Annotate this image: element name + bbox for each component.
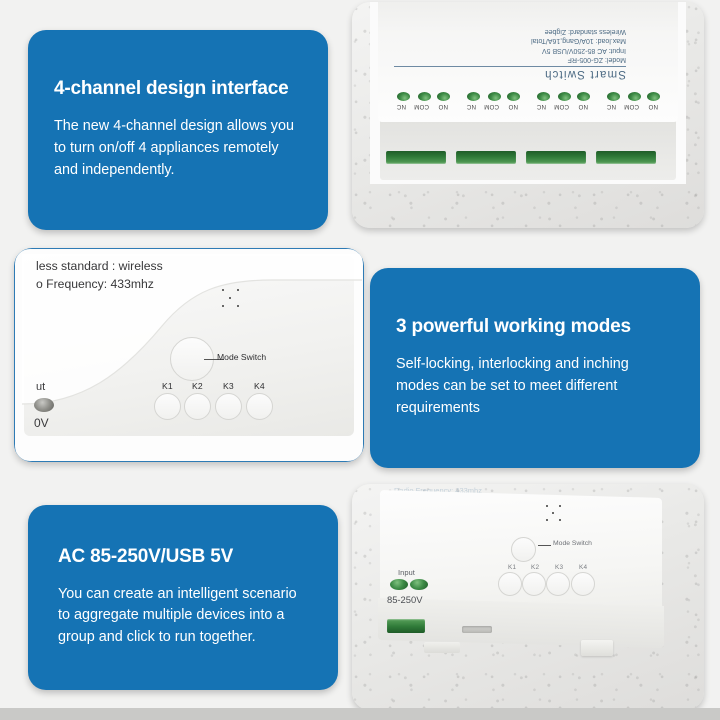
terminal-block [526, 151, 586, 164]
terminal-label: NO [578, 103, 588, 110]
voltage-label-cropped: 0V [34, 416, 49, 430]
panel-body: You can create an intelligent scenario t… [58, 584, 312, 650]
channel-label-k2: K2 [192, 381, 203, 391]
input-label-cropped: ut [36, 381, 45, 393]
screw-terminal [647, 92, 660, 101]
terminal-label: COM [554, 103, 569, 110]
screw-terminal [390, 579, 408, 590]
spec-line-frequency: o Frequency: 433mhz [36, 276, 163, 294]
panel-body: Self-locking, interlocking and inching m… [396, 354, 674, 420]
input-terminal-block [387, 619, 425, 633]
channel-button-k4[interactable] [246, 393, 273, 420]
channel-button-k3[interactable] [215, 393, 242, 420]
channel-label-k4: K4 [254, 381, 265, 391]
panel-heading: 3 powerful working modes [396, 316, 674, 338]
mode-switch-label: Mode Switch [217, 352, 266, 362]
mounting-clip [424, 642, 460, 653]
terminal-label: NC [537, 103, 546, 110]
bottom-edge-strip [0, 708, 720, 720]
mode-switch-leader-line [538, 545, 551, 546]
channel-label-k3: K3 [223, 381, 234, 391]
screw-terminal [537, 92, 550, 101]
screw-terminal [418, 92, 431, 101]
spec-line-wireless: less standard : wireless [36, 258, 163, 276]
terminal-label: NO [438, 103, 448, 110]
panel-4-channel: 4-channel design interface The new 4-cha… [28, 30, 328, 230]
terminal-label: NC [397, 103, 406, 110]
terminal-label: COM [624, 103, 639, 110]
terminal-block [456, 151, 516, 164]
channel-label-k1: K1 [162, 381, 173, 391]
terminal-block [386, 151, 446, 164]
terminal-label: NC [607, 103, 616, 110]
channel-label-k4: K4 [579, 564, 587, 571]
screw-terminal [507, 92, 520, 101]
terminal-label: NO [648, 103, 658, 110]
channel-button-k4[interactable] [571, 572, 595, 596]
mode-switch-label: Mode Switch [553, 540, 592, 547]
product-spec-label: Smart Switch Model: ZG-005-RF Input: AC … [394, 26, 626, 80]
panel-body: The new 4-channel design allows you to t… [54, 116, 302, 182]
usb-port [462, 626, 492, 633]
screw-terminal [577, 92, 590, 101]
spec-line: Wireless standard: Zigbee [394, 26, 626, 35]
panel-heading: AC 85-250V/USB 5V [58, 546, 312, 568]
terminal-block [596, 151, 656, 164]
voltage-label: 85-250V [387, 594, 422, 605]
device-top-view: NO COM NC NO COM NC NO COM NC NO COM NC [370, 2, 686, 184]
product-photo-bottom-right: Radio Frequency: 433mhz Mode Switch K1 K… [352, 484, 704, 710]
channel-label-k3: K3 [555, 564, 563, 571]
panel-working-modes: 3 powerful working modes Self-locking, i… [370, 268, 700, 468]
screw-terminal [628, 92, 641, 101]
terminal-label: NC [467, 103, 476, 110]
channel-button-k2[interactable] [522, 572, 546, 596]
product-photo-top-right: NO COM NC NO COM NC NO COM NC NO COM NC [352, 2, 704, 228]
spec-line: Model: ZG-005-RF [394, 55, 626, 64]
screw-terminal [410, 579, 428, 590]
channel-label-k2: K2 [531, 564, 539, 571]
channel-button-k2[interactable] [184, 393, 211, 420]
spec-line: Max.load: 10A/Gang,16A/Total [394, 36, 626, 45]
mode-switch-button[interactable] [511, 537, 536, 562]
channel-button-k3[interactable] [546, 572, 570, 596]
device-spec-text: less standard : wireless o Frequency: 43… [36, 258, 163, 293]
product-photo-middle-left: less standard : wireless o Frequency: 43… [14, 248, 364, 462]
screw-terminal [34, 398, 54, 412]
channel-button-k1[interactable] [498, 572, 522, 596]
device-front-face [380, 116, 676, 180]
input-label: Input [398, 568, 415, 577]
terminal-label: COM [484, 103, 499, 110]
screw-terminal [607, 92, 620, 101]
screw-terminal [437, 92, 450, 101]
channel-label-k1: K1 [508, 564, 516, 571]
terminal-label: NO [508, 103, 518, 110]
spec-line: Input: AC 85-250V/USB 5V [394, 45, 626, 54]
terminal-label: COM [414, 103, 429, 110]
panel-heading: 4-channel design interface [54, 78, 302, 100]
panel-power-input: AC 85-250V/USB 5V You can create an inte… [28, 505, 338, 690]
mounting-clip [581, 640, 613, 656]
screw-terminal [397, 92, 410, 101]
spec-title: Smart Switch [394, 66, 626, 80]
screw-terminal [467, 92, 480, 101]
screw-terminal [558, 92, 571, 101]
screw-terminal [488, 92, 501, 101]
channel-button-k1[interactable] [154, 393, 181, 420]
